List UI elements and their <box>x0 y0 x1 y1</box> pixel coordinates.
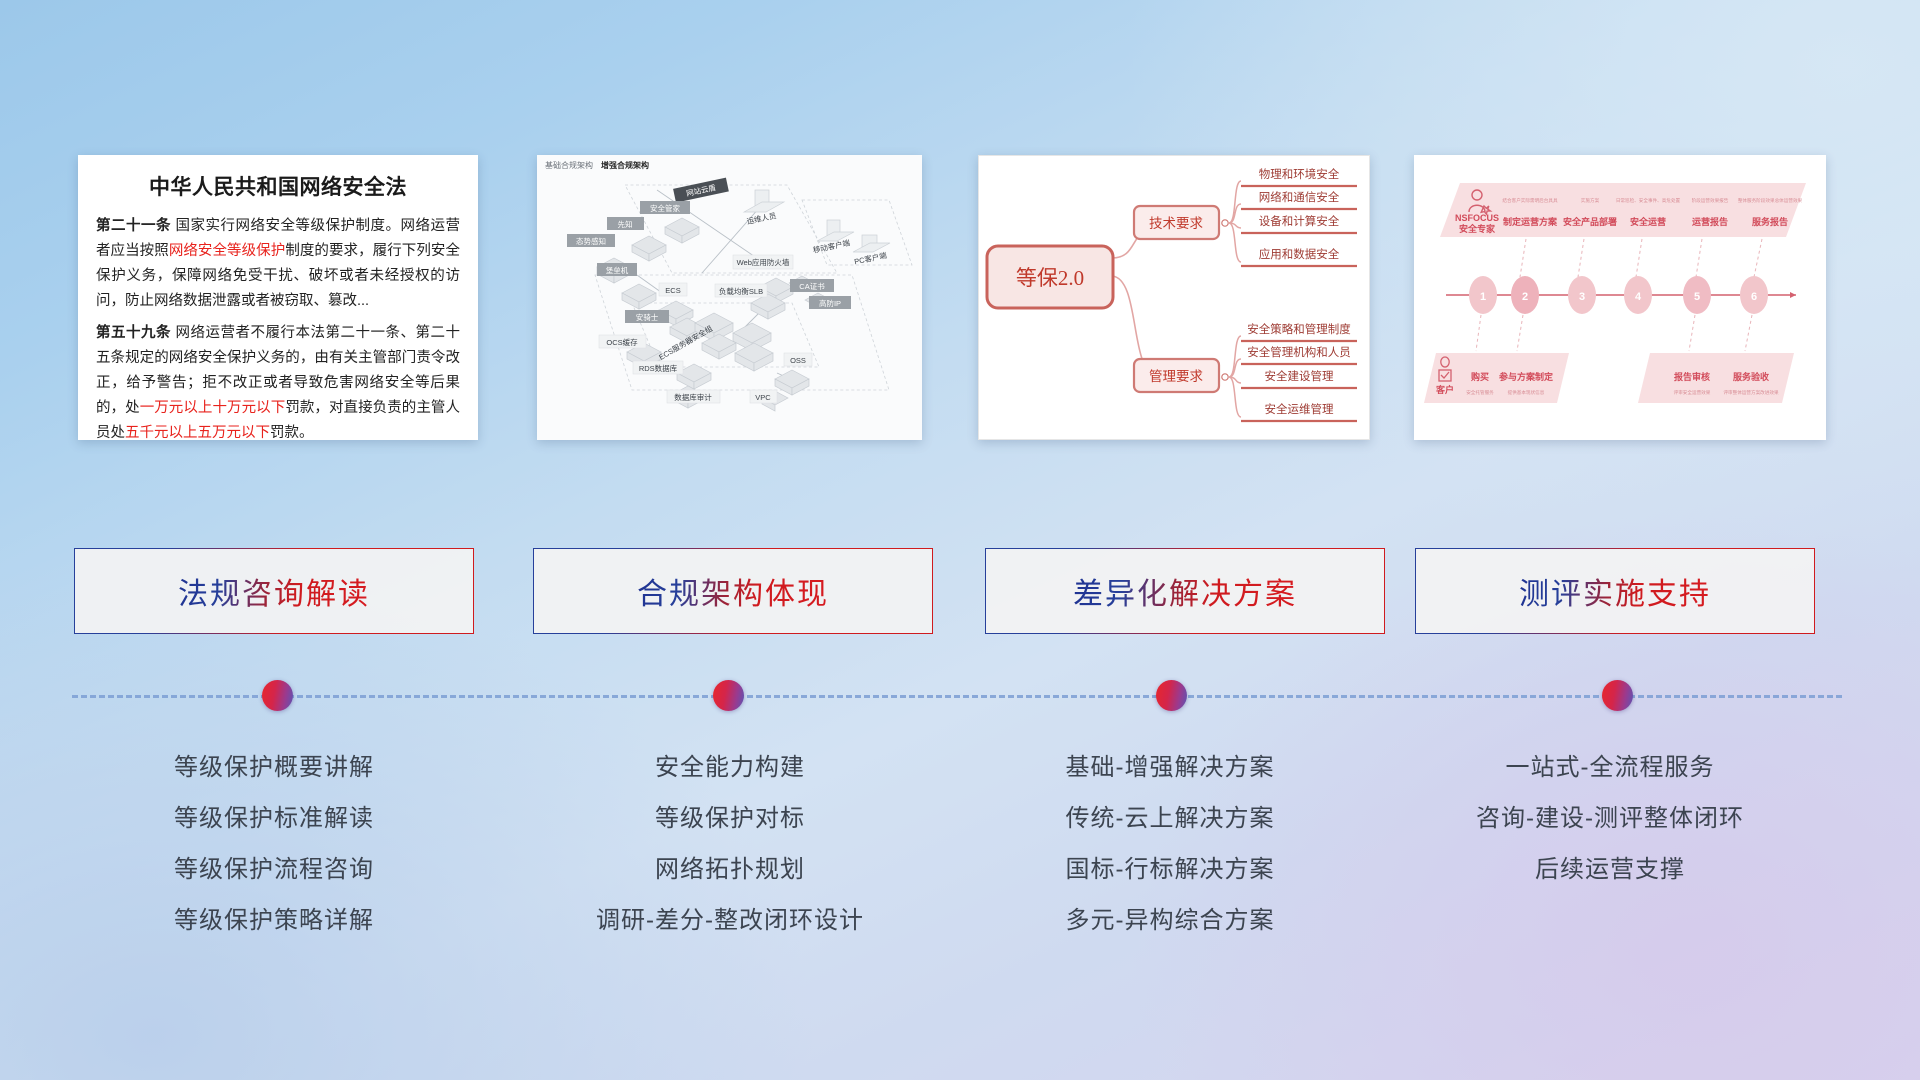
mm-leaf-m2: 安全管理机构和人员 <box>1247 345 1351 359</box>
svg-text:VPC: VPC <box>755 393 771 402</box>
section-list-2: 安全能力构建 等级保护对标 网络拓扑规划 调研-差分-整改闭环设计 <box>520 742 940 946</box>
step-number-4: 4 <box>1635 291 1642 303</box>
step-number-6: 6 <box>1751 291 1757 303</box>
mm-leaf-t2: 网络和通信安全 <box>1259 190 1340 204</box>
list-item: 等级保护流程咨询 <box>64 844 484 895</box>
law-article-59-fine-1: 一万元以上十万元以下 <box>140 400 286 416</box>
section-list-4: 一站式-全流程服务 咨询-建设-测评整体闭环 后续运营支撑 <box>1400 742 1820 895</box>
list-item: 调研-差分-整改闭环设计 <box>520 895 940 946</box>
step-number-1: 1 <box>1480 291 1486 303</box>
section-list-3: 基础-增强解决方案 传统-云上解决方案 国标-行标解决方案 多元-异构综合方案 <box>960 742 1380 946</box>
timeline-dot-1[interactable] <box>262 680 293 711</box>
list-item: 等级保护概要讲解 <box>64 742 484 793</box>
card-dengbao-mindmap[interactable]: 等保2.0 技术要求 物理和环境安全 网络和通信安全 <box>978 155 1370 440</box>
card-service-process[interactable]: NSFOCUS 安全专家 结合客户实际需明后台具具 制定运营方案 实施方案 安全… <box>1414 155 1826 440</box>
timeline-dot-3[interactable] <box>1156 680 1187 711</box>
process-customer-band-right <box>1638 353 1794 403</box>
list-item: 一站式-全流程服务 <box>1400 742 1820 793</box>
list-item: 咨询-建设-测评整体闭环 <box>1400 793 1820 844</box>
svg-text:运维人员: 运维人员 <box>746 210 778 226</box>
svg-text:安全管家: 安全管家 <box>650 203 680 213</box>
list-item: 等级保护策略详解 <box>64 895 484 946</box>
section-title-box-1[interactable]: 法规咨询解读 <box>74 548 474 634</box>
step-number-3: 3 <box>1579 291 1585 303</box>
section-list-1: 等级保护概要讲解 等级保护标准解读 等级保护流程咨询 等级保护策略详解 <box>64 742 484 946</box>
svg-text:负载均衡SLB: 负载均衡SLB <box>719 286 763 296</box>
architecture-diagram: 基础合规架构增强合规架构 <box>537 155 922 440</box>
law-article-21-label: 第二十一条 <box>96 218 171 234</box>
top-title-1: 制定运营方案 <box>1503 216 1558 227</box>
mm-leaf-t1: 物理和环境安全 <box>1259 167 1340 181</box>
svg-text:先知: 先知 <box>618 219 633 229</box>
list-item: 等级保护标准解读 <box>64 793 484 844</box>
mindmap-svg: 等保2.0 技术要求 物理和环境安全 网络和通信安全 <box>979 156 1370 440</box>
list-item: 安全能力构建 <box>520 742 940 793</box>
top-caption-1: 结合客户实际需明后台具具 <box>1502 197 1558 204</box>
section-title-box-2[interactable]: 合规架构体现 <box>533 548 933 634</box>
list-item: 国标-行标解决方案 <box>960 844 1380 895</box>
list-item: 传统-云上解决方案 <box>960 793 1380 844</box>
mindmap-branch-technical-label: 技术要求 <box>1149 216 1203 231</box>
svg-text:安骑士: 安骑士 <box>636 312 659 322</box>
law-article-21: 第二十一条 国家实行网络安全等级保护制度。网络运营者应当按照网络安全等级保护制度… <box>96 214 460 314</box>
top-title-3: 安全运营 <box>1630 216 1666 227</box>
process-svg: NSFOCUS 安全专家 结合客户实际需明后台具具 制定运营方案 实施方案 安全… <box>1414 155 1826 440</box>
list-item: 基础-增强解决方案 <box>960 742 1380 793</box>
svg-text:CA证书: CA证书 <box>799 281 825 291</box>
timeline-dot-4[interactable] <box>1602 680 1633 711</box>
timeline <box>72 694 1842 698</box>
customer-label: 客户 <box>1435 384 1454 395</box>
page-background: 中华人民共和国网络安全法 第二十一条 国家实行网络安全等级保护制度。网络运营者应… <box>0 0 1920 1080</box>
bottom-caption-1: 安全托管服务 <box>1466 389 1494 396</box>
svg-text:堡垒机: 堡垒机 <box>606 265 629 275</box>
list-item: 网络拓扑规划 <box>520 844 940 895</box>
svg-text:数据库审计: 数据库审计 <box>674 392 712 402</box>
svg-text:ECS: ECS <box>665 286 680 295</box>
top-caption-2: 实施方案 <box>1581 197 1600 204</box>
law-article-21-highlight: 网络安全等级保护 <box>169 243 286 259</box>
svg-text:RDS数据库: RDS数据库 <box>639 363 678 373</box>
law-article-59-fine-2: 五千元以上五万元以下 <box>125 425 270 440</box>
mm-leaf-t4: 应用和数据安全 <box>1259 247 1340 261</box>
top-title-2: 安全产品部署 <box>1563 216 1617 227</box>
svg-text:态势感知: 态势感知 <box>576 236 606 246</box>
mm-leaf-t3: 设备和计算安全 <box>1259 214 1340 228</box>
step-number-2: 2 <box>1522 291 1528 303</box>
timeline-dot-2[interactable] <box>713 680 744 711</box>
section-title-4: 测评实施支持 <box>1519 569 1711 613</box>
section-title-2: 合规架构体现 <box>637 569 829 613</box>
mm-leaf-m3: 安全建设管理 <box>1265 369 1334 383</box>
section-title-box-3[interactable]: 差异化解决方案 <box>985 548 1385 634</box>
list-item: 后续运营支撑 <box>1400 844 1820 895</box>
top-title-4: 运营报告 <box>1692 216 1728 227</box>
mindmap: 等保2.0 技术要求 物理和环境安全 网络和通信安全 <box>978 155 1370 440</box>
mm-leaf-m4: 安全运维管理 <box>1265 402 1334 416</box>
mm-leaf-m1: 安全策略和管理制度 <box>1247 322 1351 336</box>
bottom-title-3: 报告审核 <box>1674 371 1710 382</box>
card-cybersecurity-law[interactable]: 中华人民共和国网络安全法 第二十一条 国家实行网络安全等级保护制度。网络运营者应… <box>78 155 478 440</box>
timeline-dashed-line <box>72 695 1842 698</box>
bottom-title-2: 参与方案制定 <box>1499 371 1554 382</box>
bottom-title-1: 购买 <box>1471 371 1489 382</box>
svg-text:OSS: OSS <box>790 356 806 365</box>
expert-brand: NSFOCUS <box>1455 213 1499 223</box>
list-item: 等级保护对标 <box>520 793 940 844</box>
law-title: 中华人民共和国网络安全法 <box>96 171 460 201</box>
step-number-5: 5 <box>1694 291 1700 303</box>
bottom-caption-4: 评审整体运营方案改进效果 <box>1723 389 1779 396</box>
mindmap-branch-management-label: 管理要求 <box>1149 369 1203 384</box>
expert-role: 安全专家 <box>1459 223 1496 234</box>
bottom-caption-2: 提供基本现状信息 <box>1508 389 1545 396</box>
section-title-1: 法规咨询解读 <box>178 569 370 613</box>
svg-text:OCS缓存: OCS缓存 <box>606 337 638 347</box>
top-title-5: 服务报告 <box>1752 216 1788 227</box>
svg-text:高防IP: 高防IP <box>819 298 841 308</box>
process-diagram: NSFOCUS 安全专家 结合客户实际需明后台具具 制定运营方案 实施方案 安全… <box>1414 155 1826 440</box>
mindmap-root-label: 等保2.0 <box>1016 266 1084 290</box>
top-caption-3: 日常巡检、安全事件、高危处置 <box>1616 197 1681 204</box>
list-item: 多元-异构综合方案 <box>960 895 1380 946</box>
section-title-box-4[interactable]: 测评实施支持 <box>1415 548 1815 634</box>
law-document: 中华人民共和国网络安全法 第二十一条 国家实行网络安全等级保护制度。网络运营者应… <box>78 155 478 440</box>
section-title-3: 差异化解决方案 <box>1073 569 1297 613</box>
law-article-59-post: 罚款。 <box>270 425 314 440</box>
law-article-59-label: 第五十九条 <box>96 325 171 341</box>
architecture-svg: 网站云盾 安全管家 先知 态势感知 堡垒机 安骑士 CA证书 <box>537 155 922 440</box>
svg-text:Web应用防火墙: Web应用防火墙 <box>737 257 790 267</box>
top-caption-5: 整体服务阶段效果总体运营效果 <box>1738 197 1803 204</box>
card-compliance-architecture[interactable]: 基础合规架构增强合规架构 <box>537 155 922 440</box>
law-article-59: 第五十九条 网络运营者不履行本法第二十一条、第二十五条规定的网络安全保护义务的，… <box>96 321 460 440</box>
bottom-caption-3: 评审安全运营效果 <box>1674 389 1711 396</box>
bottom-title-4: 服务验收 <box>1733 371 1769 382</box>
top-caption-4: 阶段运营效果报告 <box>1692 197 1729 204</box>
